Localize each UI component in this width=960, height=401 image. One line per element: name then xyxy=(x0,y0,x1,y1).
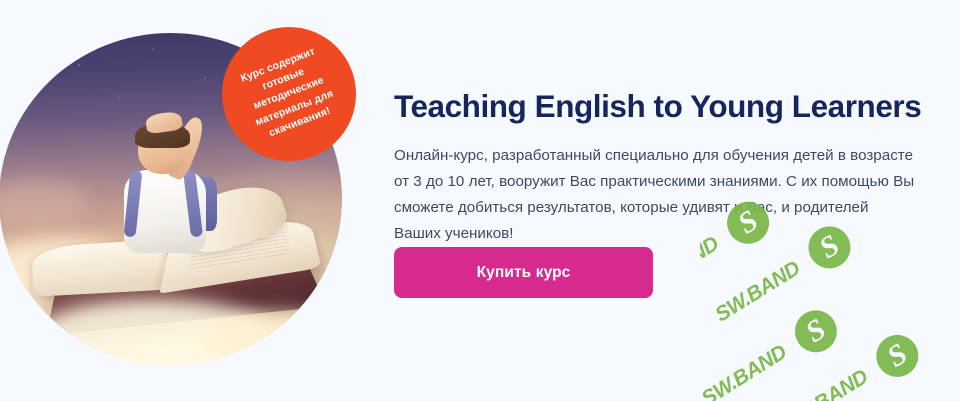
hero-content: Teaching English to Young Learners Онлай… xyxy=(394,0,914,401)
hero-section: Курс содержит готовые методические матер… xyxy=(0,0,960,401)
page-title: Teaching English to Young Learners xyxy=(394,88,921,124)
promo-badge: Курс содержит готовые методические матер… xyxy=(222,27,356,161)
promo-badge-text: Курс содержит готовые методические матер… xyxy=(220,37,357,150)
photo-child xyxy=(102,123,239,282)
buy-course-button[interactable]: Купить курс xyxy=(394,247,653,298)
hero-description: Онлайн-курс, разработанный специально дл… xyxy=(394,143,916,248)
